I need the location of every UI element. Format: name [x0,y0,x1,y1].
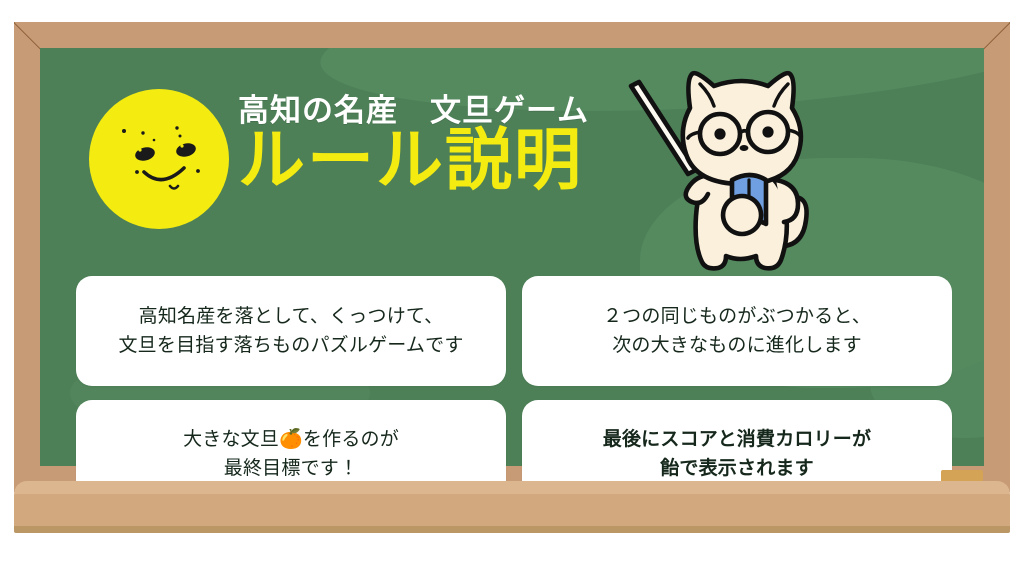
teacher-cat-icon [628,56,858,286]
chalk-ledge [14,492,1010,533]
pomelo-character-icon [88,88,230,230]
rule-card-objective: 高知名産を落として、くっつけて、 文旦を目指す落ちものパズルゲームです [76,276,506,386]
rule-card-text: 高知名産を落として、くっつけて、 文旦を目指す落ちものパズルゲームです [118,302,463,361]
page-title: ルール説明 [238,126,583,196]
rule-card-text: 大きな文旦🍊を作るのが 最終目標です！ [183,425,399,484]
slide-root: 高知の名産 文旦ゲーム ルール説明 高知名産を落として、くっつけて、 文旦を目指… [0,0,1024,576]
rule-card-text: 最後にスコアと消費カロリーが 飴で表示されます [603,425,871,484]
rule-card-text: ２つの同じものがぶつかると、 次の大きなものに進化します [603,302,871,361]
rule-card-merge: ２つの同じものがぶつかると、 次の大きなものに進化します [522,276,952,386]
chalk-ledge-lip [14,481,1010,494]
